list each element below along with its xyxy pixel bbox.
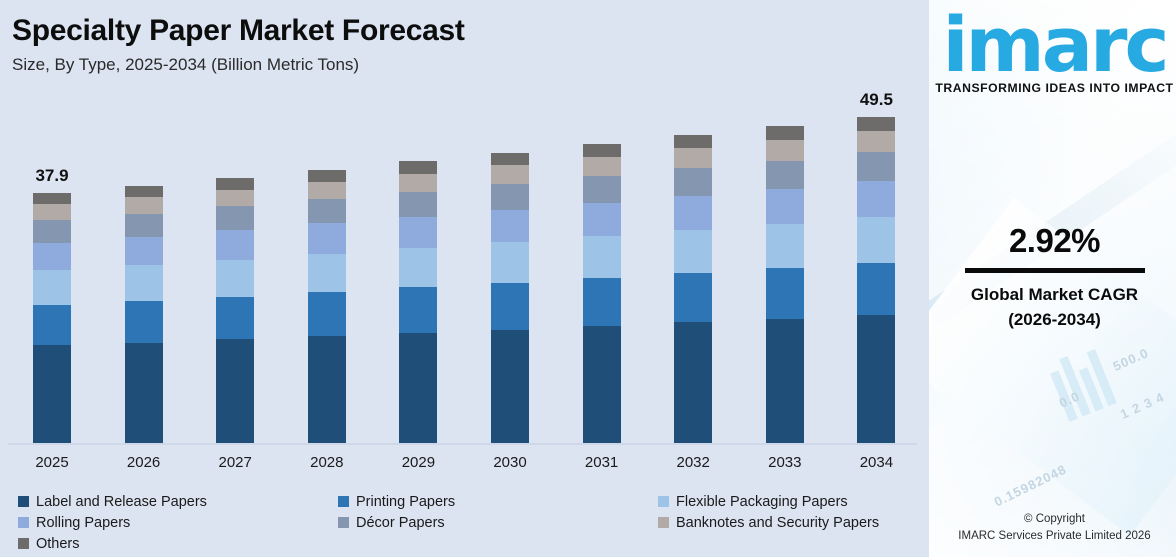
bar-segment[interactable] [308,336,346,443]
bar-segment[interactable] [216,297,254,340]
axis-baseline [8,443,917,445]
bar-segment[interactable] [399,192,437,217]
bar-segment[interactable] [308,170,346,182]
bar-segment[interactable] [216,178,254,190]
legend-item[interactable]: Printing Papers [338,494,658,510]
bar-segment[interactable] [399,161,437,174]
chart-panel: Specialty Paper Market Forecast Size, By… [0,0,925,557]
plot-area: 37.949.5 [0,100,925,445]
bar-segment[interactable] [33,243,71,271]
bar-segment[interactable] [583,203,621,236]
bar-2034[interactable]: 49.5 [857,117,895,443]
legend-swatch-icon [658,517,669,528]
cagr-divider [965,268,1145,273]
legend-label: Label and Release Papers [36,494,207,510]
x-axis-tick-2029: 2029 [399,454,437,471]
legend-label: Printing Papers [356,494,455,510]
bar-segment[interactable] [33,270,71,305]
bar-2026[interactable] [125,186,163,443]
bar-segment[interactable] [125,214,163,237]
bar-segment[interactable] [766,126,804,141]
bar-segment[interactable] [33,204,71,220]
x-axis-tick-2025: 2025 [33,454,71,471]
bar-segment[interactable] [766,268,804,319]
x-axis-tick-2026: 2026 [125,454,163,471]
legend-item[interactable]: Flexible Packaging Papers [658,494,918,510]
bar-2033[interactable] [766,126,804,443]
bar-segment[interactable] [857,263,895,315]
cagr-label-line2: (2026-2034) [929,308,1176,333]
bar-segment[interactable] [308,292,346,336]
bar-segment[interactable] [308,182,346,199]
x-axis-tick-2034: 2034 [857,454,895,471]
legend-label: Flexible Packaging Papers [676,494,848,510]
bar-segment[interactable] [491,283,529,330]
x-axis-tick-2031: 2031 [583,454,621,471]
bar-segment[interactable] [308,254,346,292]
bar-segment[interactable] [857,217,895,263]
legend-swatch-icon [338,517,349,528]
bar-segment[interactable] [491,153,529,166]
x-axis-tick-2027: 2027 [216,454,254,471]
legend-label: Décor Papers [356,515,445,531]
bar-segment[interactable] [766,224,804,268]
bar-segment[interactable] [766,319,804,443]
legend-label: Rolling Papers [36,515,130,531]
bar-segment[interactable] [125,197,163,213]
bar-segment[interactable] [674,148,712,168]
bar-segment[interactable] [491,210,529,242]
bar-segment[interactable] [766,140,804,160]
bar-segment[interactable] [583,176,621,203]
bar-segment[interactable] [674,135,712,148]
legend-item[interactable]: Others [18,536,338,552]
bar-segment[interactable] [491,184,529,210]
page-title: Specialty Paper Market Forecast [12,14,465,47]
bar-2030[interactable] [491,153,529,443]
x-axis: 2025202620272028202920302031203220332034 [0,447,925,481]
legend-item[interactable]: Label and Release Papers [18,494,338,510]
x-axis-tick-2032: 2032 [674,454,712,471]
bar-segment[interactable] [216,206,254,230]
copyright-line-1: © Copyright [929,511,1176,528]
bar-segment[interactable] [33,220,71,242]
x-axis-tick-2033: 2033 [766,454,804,471]
bar-segment[interactable] [674,196,712,230]
bar-2025[interactable]: 37.9 [33,193,71,443]
bar-segment[interactable] [674,322,712,443]
bar-segment[interactable] [583,144,621,157]
legend-label: Others [36,536,80,552]
bar-segment[interactable] [399,287,437,333]
bar-segment[interactable] [216,190,254,206]
cagr-block: 2.92% Global Market CAGR (2026-2034) [929,222,1176,332]
bar-segment[interactable] [125,265,163,301]
x-axis-tick-2028: 2028 [308,454,346,471]
bar-segment[interactable] [674,273,712,322]
bar-segment[interactable] [583,278,621,326]
bar-segment[interactable] [399,333,437,443]
chart-subtitle: Size, By Type, 2025-2034 (Billion Metric… [12,56,465,75]
legend-swatch-icon [18,538,29,549]
bar-segment[interactable] [491,330,529,443]
bar-segment[interactable] [33,193,71,204]
bar-segment[interactable] [399,174,437,192]
bar-segment[interactable] [33,305,71,345]
legend-swatch-icon [18,496,29,507]
bar-segment[interactable] [857,131,895,152]
bar-segment[interactable] [857,181,895,217]
bar-segment[interactable] [491,165,529,183]
bar-2031[interactable] [583,144,621,443]
chart-legend: Label and Release PapersPrinting PapersF… [18,491,918,554]
cagr-label-line1: Global Market CAGR [929,283,1176,308]
bar-segment[interactable] [216,260,254,297]
bar-segment[interactable] [399,248,437,288]
bar-segment[interactable] [125,301,163,343]
bar-segment[interactable] [125,186,163,197]
copyright-notice: © Copyright IMARC Services Private Limit… [929,511,1176,546]
bar-segment[interactable] [491,242,529,283]
bar-segment[interactable] [583,326,621,443]
bar-value-label: 37.9 [35,166,68,186]
branding-panel: 500.0 0.0 1 2 3 4 0.15982048 imarc TRANS… [925,0,1176,557]
bar-segment[interactable] [125,343,163,443]
bar-segment[interactable] [674,230,712,273]
bar-segment[interactable] [766,189,804,224]
bar-segment[interactable] [674,168,712,196]
imarc-logo: imarc TRANSFORMING IDEAS INTO IMPACT [929,12,1176,95]
bar-value-label: 49.5 [860,90,893,110]
bar-2028[interactable] [308,170,346,443]
bar-2027[interactable] [216,178,254,443]
bar-segment[interactable] [399,217,437,248]
chart-screenshot: Specialty Paper Market Forecast Size, By… [0,0,1176,557]
bar-segment[interactable] [216,230,254,260]
cagr-value: 2.92% [929,222,1176,260]
bar-segment[interactable] [216,339,254,443]
bar-segment[interactable] [857,152,895,181]
bar-segment[interactable] [857,117,895,132]
copyright-line-2: IMARC Services Private Limited 2026 [929,528,1176,545]
bar-segment[interactable] [766,161,804,189]
legend-item[interactable]: Décor Papers [338,515,658,531]
bar-segment[interactable] [33,345,71,443]
imarc-wordmark: imarc [942,12,1166,77]
x-axis-tick-2030: 2030 [491,454,529,471]
legend-swatch-icon [18,517,29,528]
chart-header: Specialty Paper Market Forecast Size, By… [12,14,465,75]
legend-swatch-icon [658,496,669,507]
legend-swatch-icon [338,496,349,507]
legend-item[interactable]: Banknotes and Security Papers [658,515,918,531]
bar-segment[interactable] [857,315,895,443]
legend-label: Banknotes and Security Papers [676,515,879,531]
legend-item[interactable]: Rolling Papers [18,515,338,531]
bar-segment[interactable] [308,199,346,223]
bar-segment[interactable] [583,157,621,176]
bar-2032[interactable] [674,135,712,443]
bar-segment[interactable] [583,236,621,278]
bar-segment[interactable] [308,223,346,253]
bar-segment[interactable] [125,237,163,265]
bar-2029[interactable] [399,161,437,443]
